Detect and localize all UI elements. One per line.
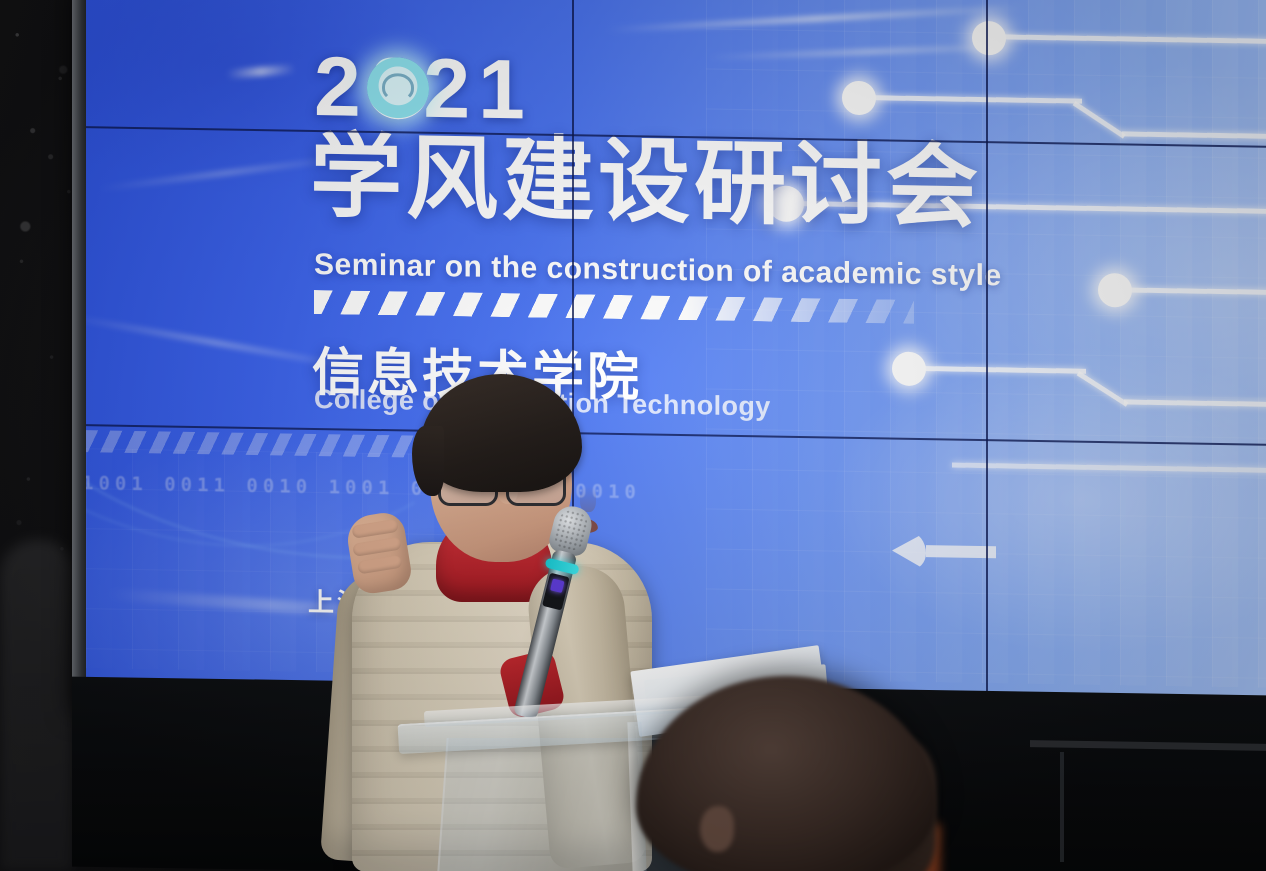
slide-content: 2021 学风建设研讨会 Seminar on the construction… [86, 0, 1266, 700]
slide-title-en: Seminar on the construction of academic … [314, 248, 1002, 293]
hand-holding-microphone [344, 510, 413, 596]
finger-1 [351, 519, 398, 539]
university-emblem-icon [367, 57, 429, 120]
finger-3 [357, 555, 402, 575]
led-video-wall-screen: 1001 0011 0010 1001 0110 1001 0010 2021 … [86, 0, 1266, 700]
attendee-ear [700, 806, 734, 852]
panel-seam-v2 [986, 0, 988, 695]
hair [420, 374, 582, 492]
screenshot-root: 1001 0011 0010 1001 0110 1001 0010 2021 … [0, 0, 1266, 871]
finger-2 [352, 537, 401, 557]
stripe-divider [314, 290, 914, 324]
standing-figure-silhouette [0, 540, 72, 871]
slide-title-cn: 学风建设研讨会 [310, 128, 982, 239]
equipment-post [1060, 752, 1064, 862]
